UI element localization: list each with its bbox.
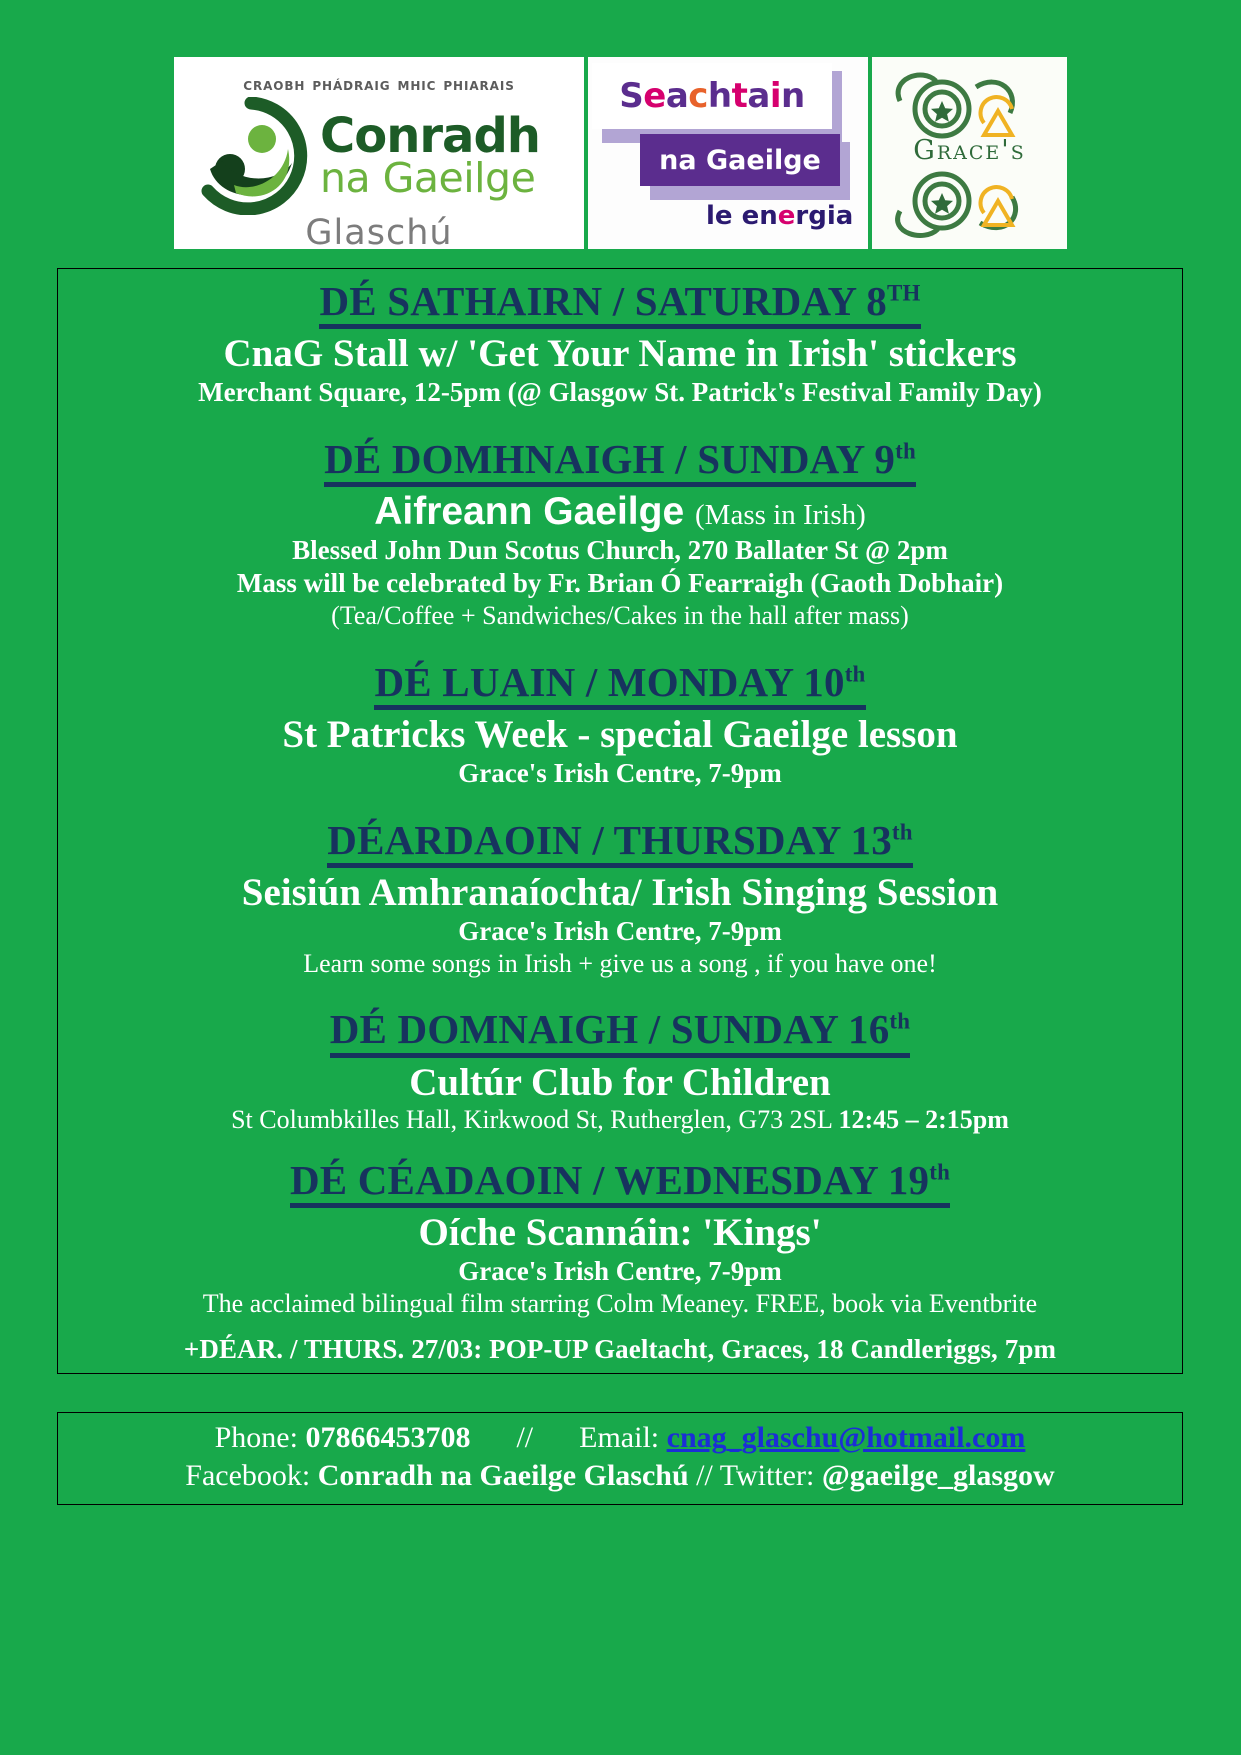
section-spacer [64,411,1176,437]
event-monday-10: DÉ LUAIN / MONDAY 10th St Patricks Week … [64,660,1176,790]
event-detail-time: 12:45 – 2:15pm [838,1105,1008,1134]
event-heading: DÉ CÉADAOIN / WEDNESDAY 19th [290,1158,950,1208]
event-detail-line: Learn some songs in Irish + give us a so… [64,949,1176,980]
facebook-label: Facebook: [185,1459,317,1492]
conradh-word-conradh: Conradh [320,113,540,159]
separator: // [516,1421,533,1454]
seachtain-word: Seachtain [619,76,804,116]
event-sunday-16: DÉ DOMNAIGH / SUNDAY 16th Cultúr Club fo… [64,1007,1176,1136]
facebook-value: Conradh na Gaeilge Glaschú [318,1459,696,1492]
section-spacer [64,1138,1176,1158]
event-title: Aifreann Gaeilge (Mass in Irish) [64,491,1176,534]
logo-seachtain-na-gaeilge: Seachtain na Gaeilge le energia [588,57,868,249]
conradh-emblem-icon [192,97,310,215]
conradh-tagline: Craobh Phádraig Mhic Phiarais [174,57,584,95]
contact-line-1: Phone: 07866453708//Email: cnag_glaschu@… [62,1419,1178,1457]
event-wednesday-19: DÉ CÉADAOIN / WEDNESDAY 19th Oíche Scann… [64,1158,1176,1320]
event-detail-line: Grace's Irish Centre, 7-9pm [64,916,1176,948]
event-heading: DÉ DOMNAIGH / SUNDAY 16th [330,1007,910,1057]
event-detail-line: Blessed John Dun Scotus Church, 270 Ball… [64,535,1176,567]
twitter-label: // Twitter: [696,1459,822,1492]
event-detail-line: Grace's Irish Centre, 7-9pm [64,758,1176,790]
extra-note: +DÉAR. / THURS. 27/03: POP-UP Gaeltacht,… [64,1334,1176,1365]
twitter-value: @gaeilge_glasgow [822,1459,1055,1492]
phone-value: 07866453708 [305,1421,470,1454]
event-title: Seisiún Amhranaíochta/ Irish Singing Ses… [64,872,1176,915]
graces-wordmark: Grace's [872,135,1067,166]
event-detail-line: Mass will be celebrated by Fr. Brian Ó F… [64,568,1176,600]
event-title-paren: (Mass in Irish) [695,499,866,531]
conradh-word-glaschu: Glaschú [174,213,584,249]
phone-label: Phone: [215,1421,306,1454]
event-heading: DÉARDAOIN / THURSDAY 13th [327,818,912,868]
contact-line-2: Facebook: Conradh na Gaeilge Glaschú // … [62,1457,1178,1495]
event-detail-line: Merchant Square, 12-5pm (@ Glasgow St. P… [64,377,1176,409]
event-title: CnaG Stall w/ 'Get Your Name in Irish' s… [64,333,1176,376]
event-heading: DÉ DOMHNAIGH / SUNDAY 9th [324,437,916,487]
events-panel: DÉ SATHAIRN / SATURDAY 8TH CnaG Stall w/… [57,268,1183,1374]
seachtain-word-leenergia: le energia [706,201,853,231]
event-detail-line: (Tea/Coffee + Sandwiches/Cakes in the ha… [64,601,1176,632]
event-title: St Patricks Week - special Gaeilge lesso… [64,714,1176,757]
event-title: Oíche Scannáin: 'Kings' [64,1212,1176,1255]
event-heading: DÉ LUAIN / MONDAY 10th [374,660,865,710]
email-link[interactable]: cnag_glaschu@hotmail.com [667,1421,1026,1454]
event-thursday-13: DÉARDAOIN / THURSDAY 13th Seisiún Amhran… [64,818,1176,980]
event-detail-line: The acclaimed bilingual film starring Co… [64,1289,1176,1320]
contact-panel: Phone: 07866453708//Email: cnag_glaschu@… [57,1412,1183,1505]
section-spacer [64,634,1176,660]
conradh-word-nagaeilge: na Gaeilge [320,159,540,198]
logo-strip: Craobh Phádraig Mhic Phiarais Conradh na… [0,0,1241,249]
event-detail-line: St Columbkilles Hall, Kirkwood St, Ruthe… [64,1105,1176,1136]
event-detail-line: Grace's Irish Centre, 7-9pm [64,1256,1176,1288]
seachtain-word-nagaeilge: na Gaeilge [640,134,840,186]
section-spacer [64,981,1176,1007]
email-label: Email: [579,1421,666,1454]
event-sunday-9: DÉ DOMHNAIGH / SUNDAY 9th Aifreann Gaeil… [64,437,1176,632]
logo-conradh-na-gaeilge: Craobh Phádraig Mhic Phiarais Conradh na… [174,57,584,249]
logo-graces: Grace's [872,57,1067,249]
event-saturday-8: DÉ SATHAIRN / SATURDAY 8TH CnaG Stall w/… [64,279,1176,409]
event-title: Cultúr Club for Children [64,1062,1176,1105]
section-spacer [64,792,1176,818]
event-heading: DÉ SATHAIRN / SATURDAY 8TH [319,279,920,329]
